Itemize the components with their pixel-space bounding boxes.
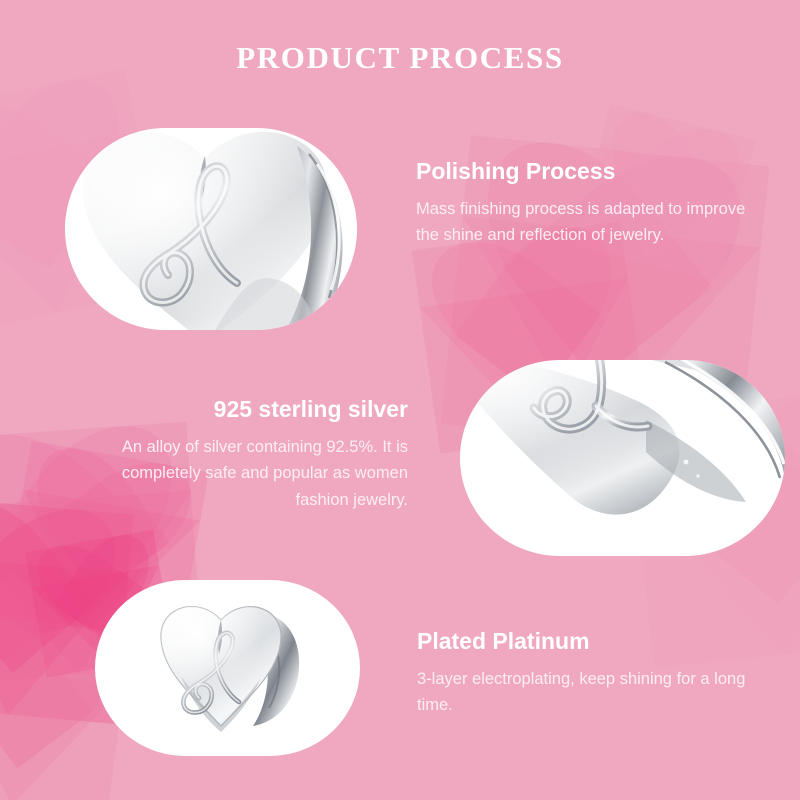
section-heading-plated-platinum: Plated Platinum [417,628,747,656]
text-block-sterling-silver: 925 sterling silver An alloy of silver c… [88,396,408,514]
product-photo-sterling-silver [460,360,785,556]
product-process-infographic: PRODUCT PROCESS [0,0,800,800]
section-body-plated-platinum: 3-layer electroplating, keep shining for… [417,666,747,719]
text-block-plated-platinum: Plated Platinum 3-layer electroplating, … [417,628,747,719]
section-heading-polishing: Polishing Process [416,158,756,186]
silver-heart-charm-full-icon [95,580,360,756]
section-heading-sterling-silver: 925 sterling silver [88,396,408,424]
product-photo-polishing [65,128,357,330]
product-photo-card-sterling-silver [460,360,785,556]
page-title: PRODUCT PROCESS [0,40,800,76]
section-body-sterling-silver: An alloy of silver containing 92.5%. It … [88,434,408,514]
text-block-polishing: Polishing Process Mass finishing process… [416,158,756,249]
product-photo-card-polishing [65,128,357,330]
silver-heart-charm-bottom-icon [460,360,785,556]
product-photo-card-plated-platinum [95,580,360,756]
silver-heart-charm-closeup-icon [65,128,357,330]
section-body-polishing: Mass finishing process is adapted to imp… [416,196,756,249]
product-photo-plated-platinum [95,580,360,756]
